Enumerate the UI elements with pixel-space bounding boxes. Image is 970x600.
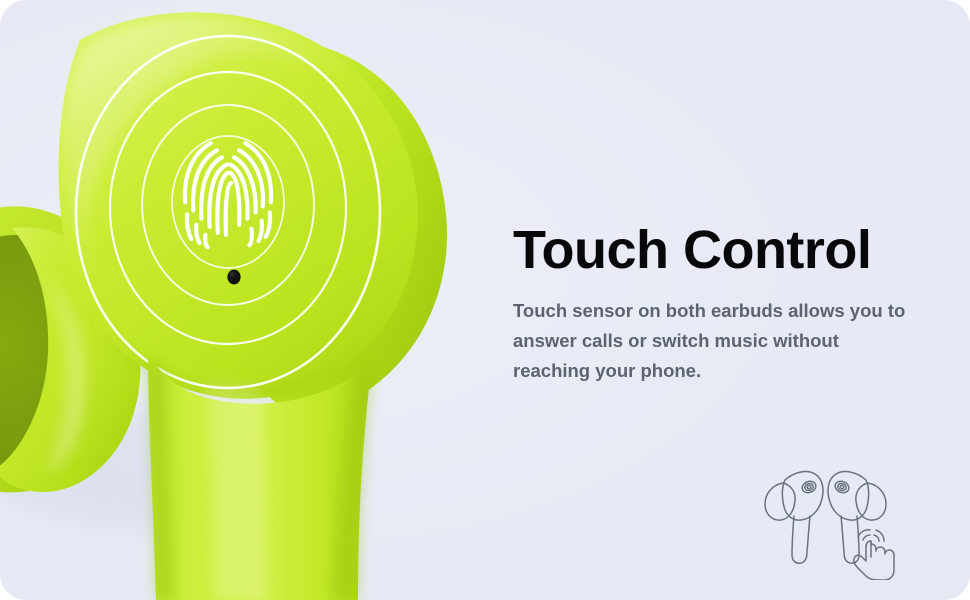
earbud-right-tip [856,483,886,520]
tap-hand-icon [854,530,894,580]
earbud-right-icon [828,472,886,564]
earbud-left-icon [765,472,823,564]
touch-control-banner: Touch Control Touch sensor on both earbu… [0,0,970,600]
stem-highlight [206,382,266,600]
page-title: Touch Control [513,222,923,278]
microphone-dot [227,270,240,285]
product-image-stage [0,0,500,600]
earbud-product-illustration [0,0,500,600]
tap-hand-outline [854,541,894,580]
microphone-dot-highlight [229,271,235,276]
earbud-left-body [782,472,823,521]
earbud-left-stem [792,516,810,563]
earbud-left-sensor-outer [800,479,817,494]
earbud-right-sensor-outer [833,479,850,494]
tap-ripple-inner-left [863,535,870,540]
earbud-right-body [828,472,869,521]
earbud-left-sensor-inner [807,485,812,489]
copy-block: Touch Control Touch sensor on both earbu… [513,222,923,386]
feature-description: Touch sensor on both earbuds allows you … [513,296,921,386]
tap-ripple-outer-right [876,530,884,541]
earbud-right-sensor-inner [840,485,845,489]
earbuds-touch-badge [752,460,912,580]
tap-ripple-inner-right [874,535,879,541]
earbud-left-tip [765,483,795,520]
